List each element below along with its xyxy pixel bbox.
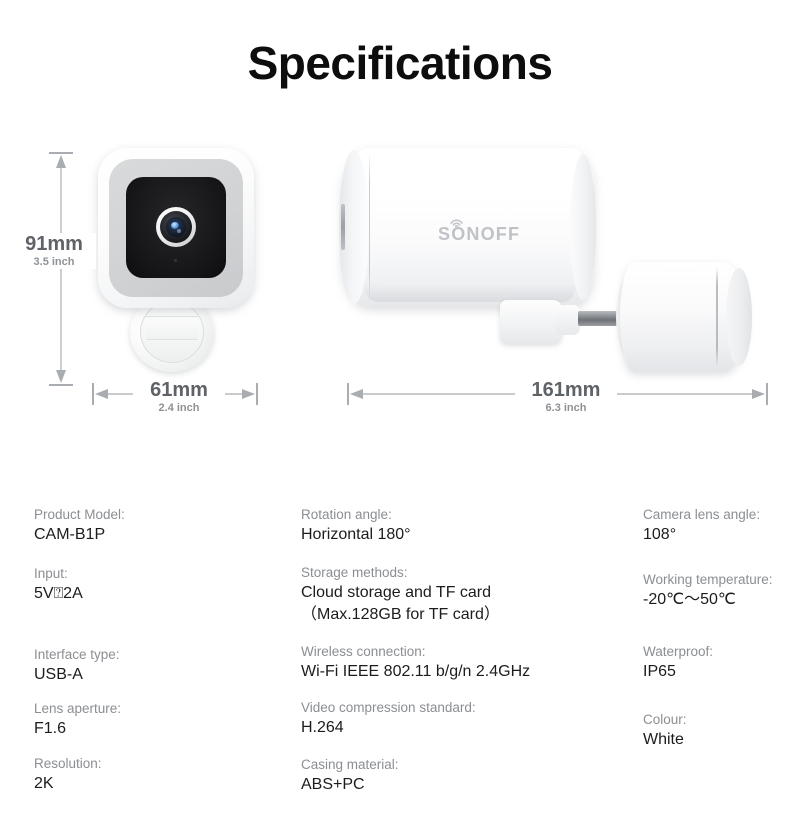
spec-item: Camera lens angle: 108° — [643, 505, 793, 546]
spec-item: Rotation angle: Horizontal 180° — [301, 505, 631, 546]
dimension-length-label: 161mm 6.3 inch — [515, 379, 617, 415]
spec-value: 108° — [643, 524, 793, 546]
spotlight-face-cap — [726, 268, 752, 366]
spec-value: ABS+PC — [301, 774, 631, 796]
spec-item: Working temperature: -20℃～50℃ — [643, 570, 793, 611]
dimension-width-label: 61mm 2.4 inch — [133, 379, 225, 415]
lens-glint-icon — [171, 222, 179, 229]
front-view-camera — [92, 146, 264, 371]
spec-label: Working temperature: — [643, 570, 793, 589]
spec-column-2: Rotation angle: Horizontal 180° Storage … — [301, 505, 631, 814]
spec-label: Product Model: — [34, 505, 284, 524]
spec-item: Storage methods: Cloud storage and TF ca… — [301, 563, 631, 626]
sonoff-logo: SONOFF — [438, 214, 538, 246]
spec-item: Product Model: CAM-B1P — [34, 505, 284, 546]
dimension-height-line — [44, 150, 78, 388]
spec-value: -20℃～50℃ — [643, 589, 793, 611]
sonoff-logo-text: SONOFF — [438, 224, 520, 245]
spec-label: Storage methods: — [301, 563, 631, 582]
spec-item: Resolution: 2K — [34, 754, 284, 795]
side-view-camera: SONOFF — [334, 148, 780, 372]
spec-column-1: Product Model: CAM-B1P Input: 5V⍰2A Inte… — [34, 505, 284, 813]
spec-value: Horizontal 180° — [301, 524, 631, 546]
spec-value: White — [643, 729, 793, 751]
spec-value: Cloud storage and TF card — [301, 582, 631, 604]
camera-body-seam — [369, 152, 370, 302]
dimension-length-inch: 6.3 inch — [520, 402, 612, 415]
spec-value: H.264 — [301, 717, 631, 739]
spec-label: Interface type: — [34, 645, 284, 664]
camera-body-front-cap — [570, 154, 596, 300]
spec-column-3: Camera lens angle: 108° Working temperat… — [643, 505, 793, 769]
spec-label: Colour: — [643, 710, 793, 729]
spec-value: IP65 — [643, 661, 793, 683]
camera-body-slot — [341, 204, 345, 250]
dimension-height-label: 91mm 3.5 inch — [12, 233, 96, 269]
spec-value-continued: （Max.128GB for TF card） — [301, 604, 631, 626]
spotlight-highlight — [634, 264, 724, 274]
spec-value: USB-A — [34, 664, 284, 686]
camera-body-highlight — [364, 151, 574, 163]
product-figures: SONOFF 91mm 3.5 inch 61mm 2.4 inch — [0, 0, 800, 470]
spec-label: Lens aperture: — [34, 699, 284, 718]
spec-value: 5V⍰2A — [34, 583, 284, 605]
spec-item: Lens aperture: F1.6 — [34, 699, 284, 740]
dimension-length-mm: 161mm — [520, 379, 612, 402]
spotlight-seam — [716, 267, 718, 367]
pir-sensor-band — [146, 316, 198, 340]
spec-label: Wireless connection: — [301, 642, 631, 661]
spec-label: Resolution: — [34, 754, 284, 773]
spec-item: Input: 5V⍰2A — [34, 564, 284, 605]
dimension-height-inch: 3.5 inch — [12, 256, 96, 269]
spec-item: Interface type: USB-A — [34, 645, 284, 686]
spec-value: 2K — [34, 773, 284, 795]
mount-bracket — [500, 300, 562, 344]
spec-label: Video compression standard: — [301, 698, 631, 717]
status-led-dot — [174, 259, 177, 262]
dimension-width-mm: 61mm — [137, 379, 221, 402]
spec-label: Waterproof: — [643, 642, 793, 661]
spec-item: Colour: White — [643, 710, 793, 751]
spec-value: F1.6 — [34, 718, 284, 740]
lens-glint-secondary-icon — [177, 229, 181, 233]
spec-item: Waterproof: IP65 — [643, 642, 793, 683]
dimension-width-inch: 2.4 inch — [137, 402, 221, 415]
spec-value: CAM-B1P — [34, 524, 284, 546]
spec-item: Video compression standard: H.264 — [301, 698, 631, 739]
spec-label: Casing material: — [301, 755, 631, 774]
spec-label: Rotation angle: — [301, 505, 631, 524]
spec-item: Wireless connection: Wi-Fi IEEE 802.11 b… — [301, 642, 631, 683]
spec-value: Wi-Fi IEEE 802.11 b/g/n 2.4GHz — [301, 661, 631, 683]
dimension-height-mm: 91mm — [12, 233, 96, 256]
spec-item: Casing material: ABS+PC — [301, 755, 631, 796]
mount-neck — [556, 305, 580, 335]
spec-label: Camera lens angle: — [643, 505, 793, 524]
specifications-table: Product Model: CAM-B1P Input: 5V⍰2A Inte… — [0, 505, 800, 795]
spec-label: Input: — [34, 564, 284, 583]
